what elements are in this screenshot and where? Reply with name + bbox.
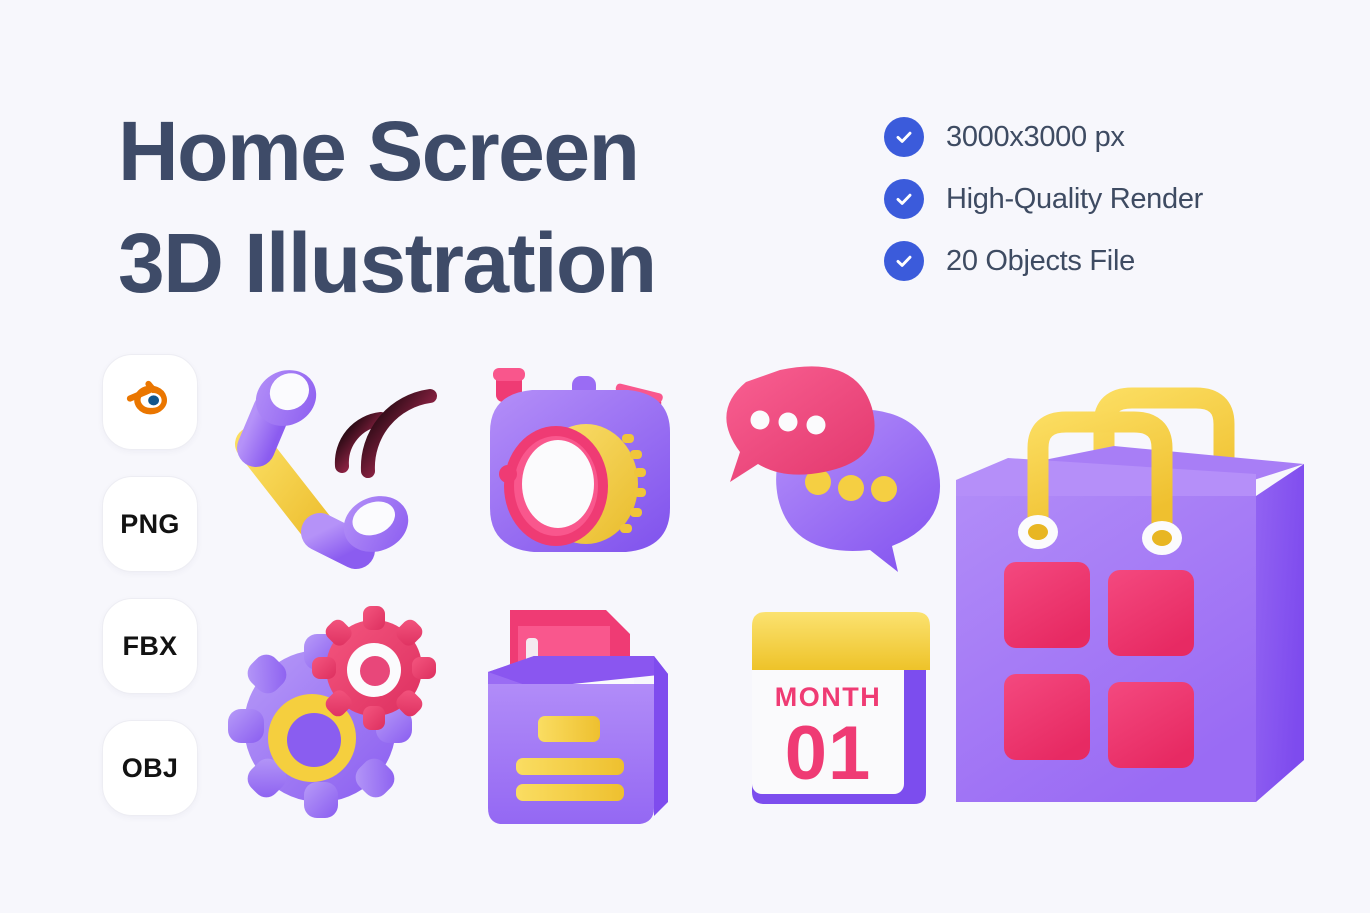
icon-grid: MONTH 01 bbox=[214, 352, 954, 822]
format-badge-label: PNG bbox=[120, 509, 179, 540]
feature-item-objects: 20 Objects File bbox=[884, 230, 1203, 292]
illustration-preview-page: Home Screen 3D Illustration 3000x3000 px… bbox=[0, 0, 1370, 913]
calendar-month-label: MONTH bbox=[775, 682, 881, 712]
bag-tile bbox=[1004, 674, 1090, 760]
file-box-3d-icon[interactable] bbox=[466, 598, 706, 828]
settings-gears-3d-icon[interactable] bbox=[224, 598, 464, 828]
format-badge-png[interactable]: PNG bbox=[102, 476, 198, 572]
bag-tile bbox=[1004, 562, 1090, 648]
format-badge-label: OBJ bbox=[122, 753, 178, 784]
feature-list: 3000x3000 px High-Quality Render 20 Obje… bbox=[884, 106, 1203, 292]
bag-tile bbox=[1108, 570, 1194, 656]
check-icon bbox=[884, 179, 924, 219]
blender-logo-icon bbox=[122, 372, 178, 433]
check-icon bbox=[884, 117, 924, 157]
calendar-3d-icon[interactable]: MONTH 01 bbox=[730, 594, 970, 824]
feature-item-quality: High-Quality Render bbox=[884, 168, 1203, 230]
calendar-day-number: 01 bbox=[785, 711, 872, 796]
page-title-line-2: 3D Illustration bbox=[118, 208, 656, 320]
feature-label: High-Quality Render bbox=[946, 183, 1203, 216]
shopping-bag-3d-icon[interactable] bbox=[938, 352, 1324, 822]
format-badge-fbx[interactable]: FBX bbox=[102, 598, 198, 694]
format-badge-list: PNG FBX OBJ bbox=[102, 354, 198, 842]
check-icon bbox=[884, 241, 924, 281]
camera-3d-icon[interactable] bbox=[460, 358, 700, 588]
format-badge-label: FBX bbox=[123, 631, 178, 662]
page-title-line-1: Home Screen bbox=[118, 96, 656, 208]
page-title: Home Screen 3D Illustration bbox=[118, 96, 656, 319]
feature-item-resolution: 3000x3000 px bbox=[884, 106, 1203, 168]
feature-label: 20 Objects File bbox=[946, 245, 1135, 278]
format-badge-obj[interactable]: OBJ bbox=[102, 720, 198, 816]
format-badge-blender[interactable] bbox=[102, 354, 198, 450]
chat-bubbles-3d-icon[interactable] bbox=[712, 360, 952, 590]
phone-call-3d-icon[interactable] bbox=[216, 358, 456, 588]
feature-label: 3000x3000 px bbox=[946, 121, 1125, 154]
bag-tile bbox=[1108, 682, 1194, 768]
